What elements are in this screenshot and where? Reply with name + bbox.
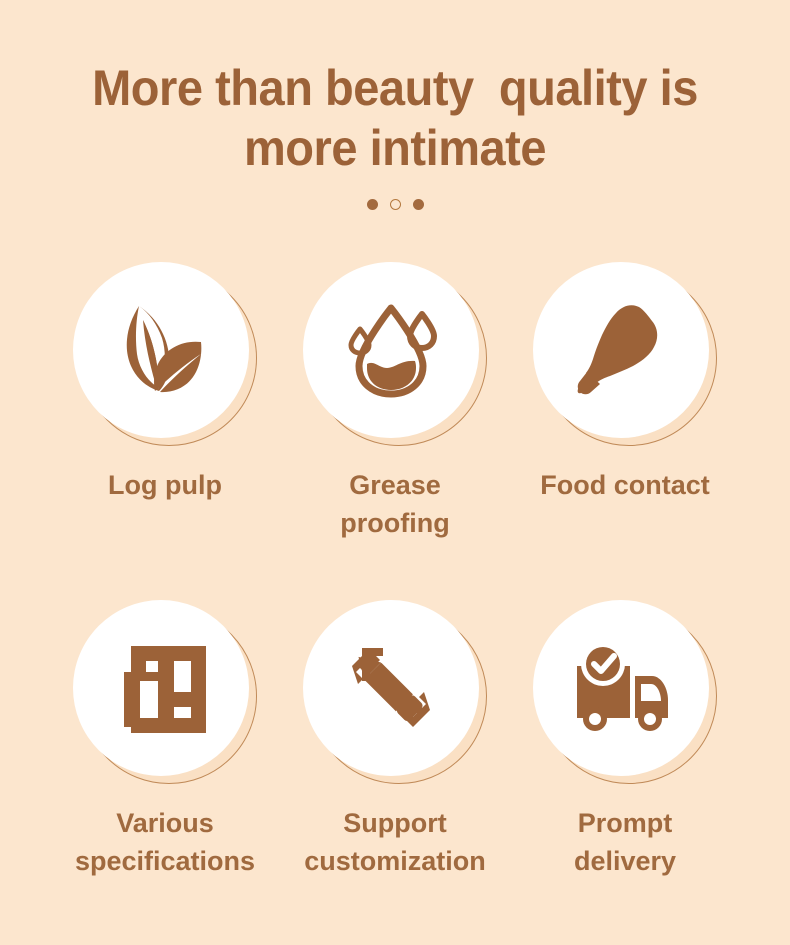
feature-badge: [73, 600, 257, 784]
icon-disc: [533, 262, 709, 438]
feature-badge: [73, 262, 257, 446]
feature-badge: [303, 600, 487, 784]
feature-item-food-contact[interactable]: Food contact: [510, 262, 740, 504]
carousel-dots[interactable]: [0, 196, 790, 212]
feature-label: Log pulp: [108, 466, 222, 504]
feature-grid: Log pulp: [0, 262, 790, 880]
feature-row-1: Log pulp: [0, 262, 790, 542]
icon-disc: [303, 262, 479, 438]
feature-label: Support customization: [304, 804, 486, 880]
feature-label: Various specifications: [75, 804, 255, 880]
icon-disc: [533, 600, 709, 776]
page-title-line-1: More than beauty quality is: [75, 58, 714, 118]
feature-label: Food contact: [540, 466, 710, 504]
delivery-truck-icon: [569, 636, 673, 740]
feature-label: Grease proofing: [340, 466, 449, 542]
feature-badge: [303, 262, 487, 446]
feature-badge: [533, 262, 717, 446]
page-title: More than beauty quality is more intimat…: [75, 58, 714, 178]
pencil-ruler-icon: [339, 636, 443, 740]
feature-item-various-specifications[interactable]: Various specifications: [50, 600, 280, 880]
icon-disc: [303, 600, 479, 776]
carousel-dot-3[interactable]: [413, 199, 424, 210]
page-title-line-2: more intimate: [75, 118, 714, 178]
boxes-layout-icon: [111, 638, 211, 738]
carousel-dot-2[interactable]: [390, 199, 401, 210]
icon-disc: [73, 600, 249, 776]
feature-item-log-pulp[interactable]: Log pulp: [50, 262, 280, 504]
drumstick-icon: [569, 298, 673, 402]
heading-block: More than beauty quality is more intimat…: [0, 0, 790, 212]
feature-label: Prompt delivery: [574, 804, 676, 880]
feature-badge: [533, 600, 717, 784]
leaf-icon: [109, 298, 213, 402]
feature-item-prompt-delivery[interactable]: Prompt delivery: [510, 600, 740, 880]
carousel-dot-1[interactable]: [367, 199, 378, 210]
feature-highlights-page: More than beauty quality is more intimat…: [0, 0, 790, 945]
feature-item-support-customization[interactable]: Support customization: [280, 600, 510, 880]
icon-disc: [73, 262, 249, 438]
grease-drop-icon: [339, 298, 443, 402]
feature-item-grease-proofing[interactable]: Grease proofing: [280, 262, 510, 542]
feature-row-2: Various specifications: [0, 600, 790, 880]
